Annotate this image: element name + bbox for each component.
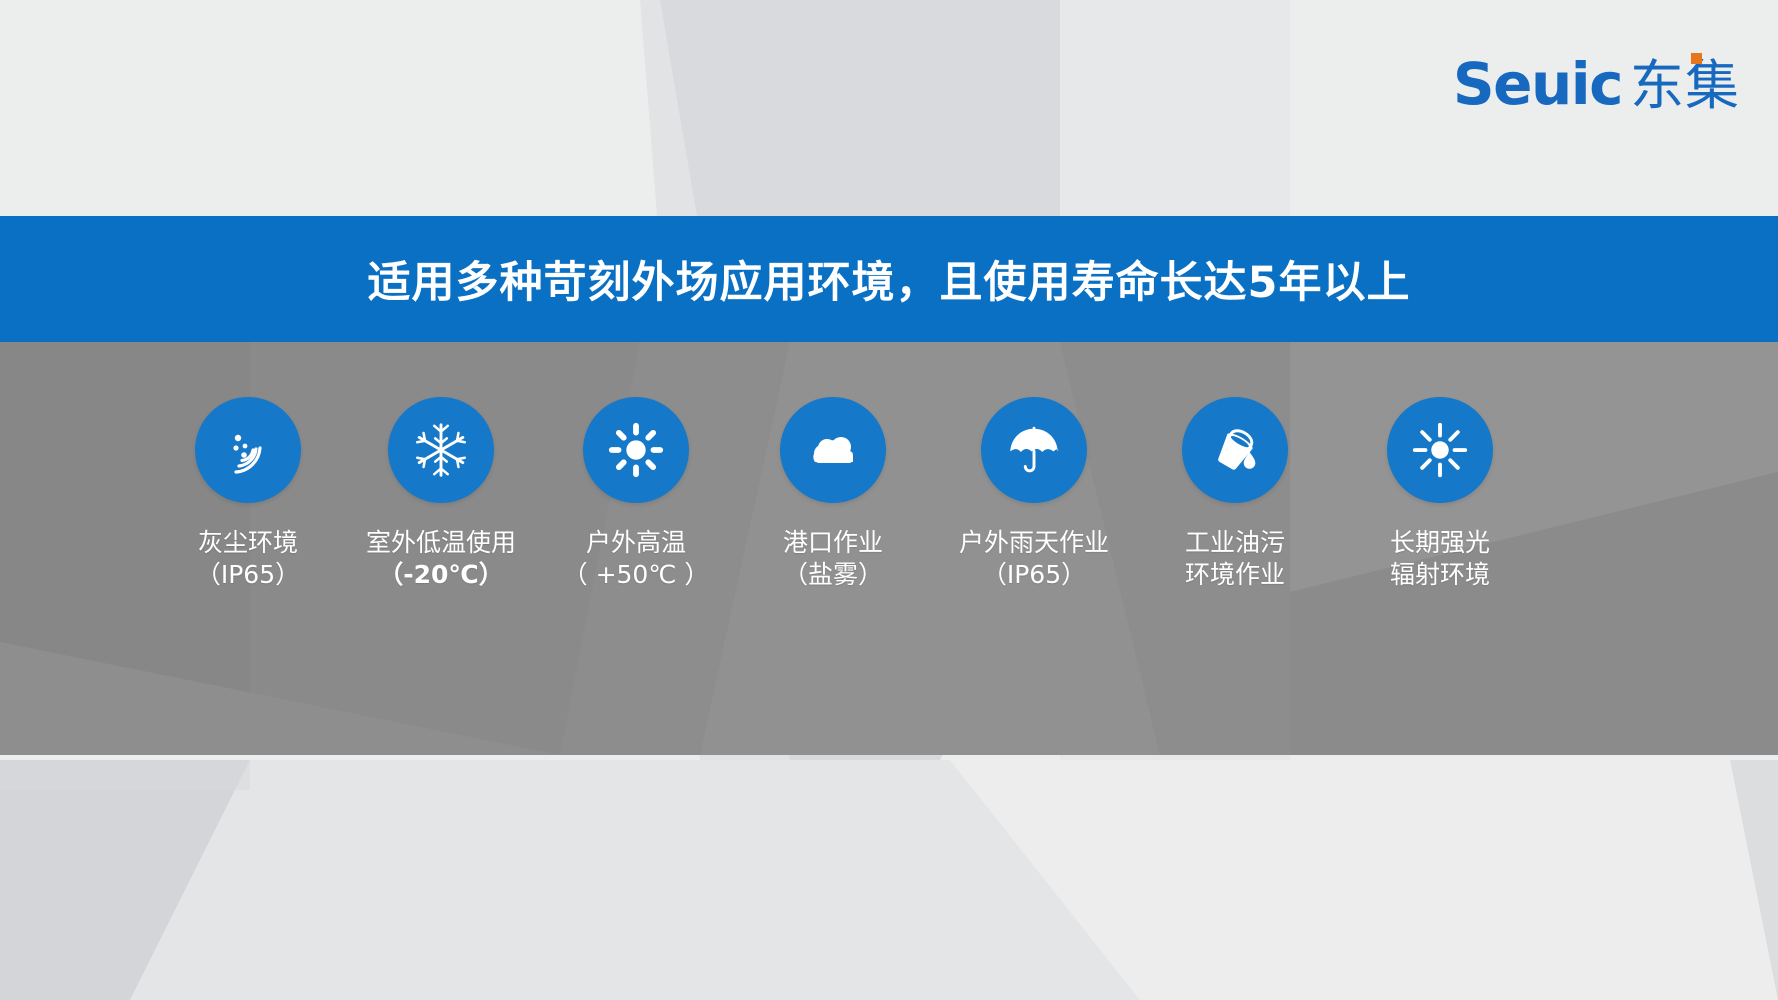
feature-label-line1: 灰尘环境: [198, 528, 298, 557]
feature-caption: 工业油污 环境作业: [1185, 527, 1285, 591]
feature-icon-circle: [583, 397, 689, 503]
feature-caption: 长期强光 辐射环境: [1390, 527, 1490, 591]
snowflake-icon: [410, 419, 472, 481]
feature-caption: 港口作业 （盐雾）: [783, 527, 883, 591]
umbrella-icon: [1003, 419, 1065, 481]
feature-icon-circle: [195, 397, 301, 503]
page-title: 适用多种苛刻外场应用环境，且使用寿命长达5年以上: [368, 248, 1411, 310]
feature-label-line2: （ +50℃ ）: [563, 559, 710, 591]
sun-rays-icon: [1409, 419, 1471, 481]
sun-dots-icon: [605, 419, 667, 481]
feature-item-dust[interactable]: 灰尘环境 （IP65）: [138, 397, 358, 591]
feature-label-line2: 辐射环境: [1390, 559, 1490, 591]
slide-canvas: Seuic 东集 适用多种苛刻外场应用环境，且使用寿命长达5年以上: [0, 0, 1778, 1000]
oil-bucket-pour-icon: [1204, 419, 1266, 481]
feature-icon-circle: [1182, 397, 1288, 503]
feature-caption: 户外雨天作业 （IP65）: [959, 527, 1109, 591]
feature-caption: 户外高温 （ +50℃ ）: [563, 527, 710, 591]
feature-icon-circle: [1387, 397, 1493, 503]
feature-label-line1: 室外低温使用: [366, 528, 516, 557]
feature-item-industrial-oil[interactable]: 工业油污 环境作业: [1125, 397, 1345, 591]
feature-item-rain-operations[interactable]: 户外雨天作业 （IP65）: [924, 397, 1144, 591]
feature-label-line2: 环境作业: [1185, 559, 1285, 591]
feature-icon-circle: [981, 397, 1087, 503]
feature-item-strong-light[interactable]: 长期强光 辐射环境: [1330, 397, 1550, 591]
feature-label-line1: 户外高温: [586, 528, 686, 557]
logo-wordmark: Seuic: [1453, 55, 1622, 113]
feature-item-high-temperature[interactable]: 户外高温 （ +50℃ ）: [526, 397, 746, 591]
feature-label-line1: 港口作业: [783, 528, 883, 557]
dust-particles-icon: [216, 418, 280, 482]
feature-label-line2: （-20℃）: [366, 559, 516, 591]
feature-label-line1: 工业油污: [1185, 528, 1285, 557]
feature-icon-circle: [388, 397, 494, 503]
cloud-icon: [801, 418, 865, 482]
feature-label-line1: 长期强光: [1390, 528, 1490, 557]
feature-band: 灰尘环境 （IP65）: [0, 342, 1778, 755]
feature-list: 灰尘环境 （IP65）: [0, 342, 1778, 755]
feature-item-low-temperature[interactable]: 室外低温使用 （-20℃）: [331, 397, 551, 591]
feature-label-line2: （IP65）: [196, 559, 300, 591]
brand-logo: Seuic 东集: [1453, 55, 1740, 113]
title-banner: 适用多种苛刻外场应用环境，且使用寿命长达5年以上: [0, 216, 1778, 342]
feature-label-line1: 户外雨天作业: [959, 528, 1109, 557]
logo-dot-icon: [1691, 53, 1702, 64]
feature-label-line2: （盐雾）: [783, 559, 883, 591]
feature-caption: 灰尘环境 （IP65）: [196, 527, 300, 591]
feature-caption: 室外低温使用 （-20℃）: [366, 527, 516, 591]
feature-icon-circle: [780, 397, 886, 503]
feature-item-port-operations[interactable]: 港口作业 （盐雾）: [723, 397, 943, 591]
feature-label-line2: （IP65）: [959, 559, 1109, 591]
logo-chinese-name: 东集: [1630, 59, 1740, 113]
